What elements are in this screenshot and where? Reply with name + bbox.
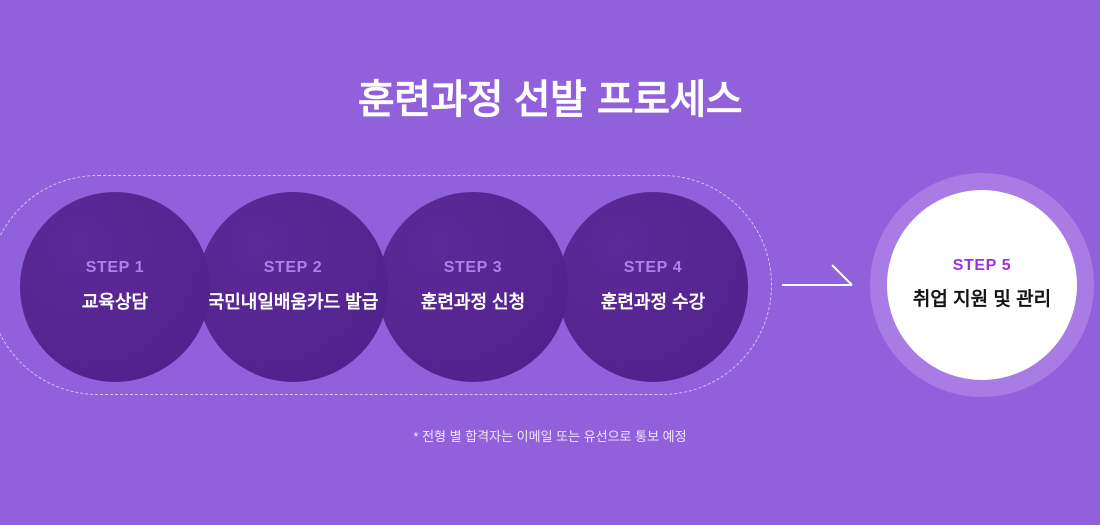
step-label-5: 취업 지원 및 관리 — [913, 286, 1051, 314]
step-label-3: 훈련과정 신청 — [421, 289, 525, 315]
process-diagram: 훈련과정 선발 프로세스 STEP 1 교육상담 STEP 2 국민내일배움카드… — [0, 0, 1100, 525]
step-label-1: 교육상담 — [82, 289, 148, 315]
page-title: 훈련과정 선발 프로세스 — [0, 76, 1100, 124]
step-circle-2[interactable]: STEP 2 국민내일배움카드 발급 — [198, 192, 388, 382]
footnote-text: * 전형 별 합격자는 이메일 또는 유선으로 통보 예정 — [0, 426, 1100, 445]
step-kicker-1: STEP 1 — [86, 259, 144, 277]
step-kicker-2: STEP 2 — [264, 259, 322, 277]
step-kicker-5: STEP 5 — [953, 257, 1011, 275]
arrow-right-icon — [780, 258, 860, 298]
step-circle-4[interactable]: STEP 4 훈련과정 수강 — [558, 192, 748, 382]
step-kicker-3: STEP 3 — [444, 259, 502, 277]
step-circle-5[interactable]: STEP 5 취업 지원 및 관리 — [887, 190, 1077, 380]
step-kicker-4: STEP 4 — [624, 259, 682, 277]
step-circle-1[interactable]: STEP 1 교육상담 — [20, 192, 210, 382]
step-label-2: 국민내일배움카드 발급 — [208, 289, 379, 315]
step-label-4: 훈련과정 수강 — [601, 289, 705, 315]
step-circle-3[interactable]: STEP 3 훈련과정 신청 — [378, 192, 568, 382]
